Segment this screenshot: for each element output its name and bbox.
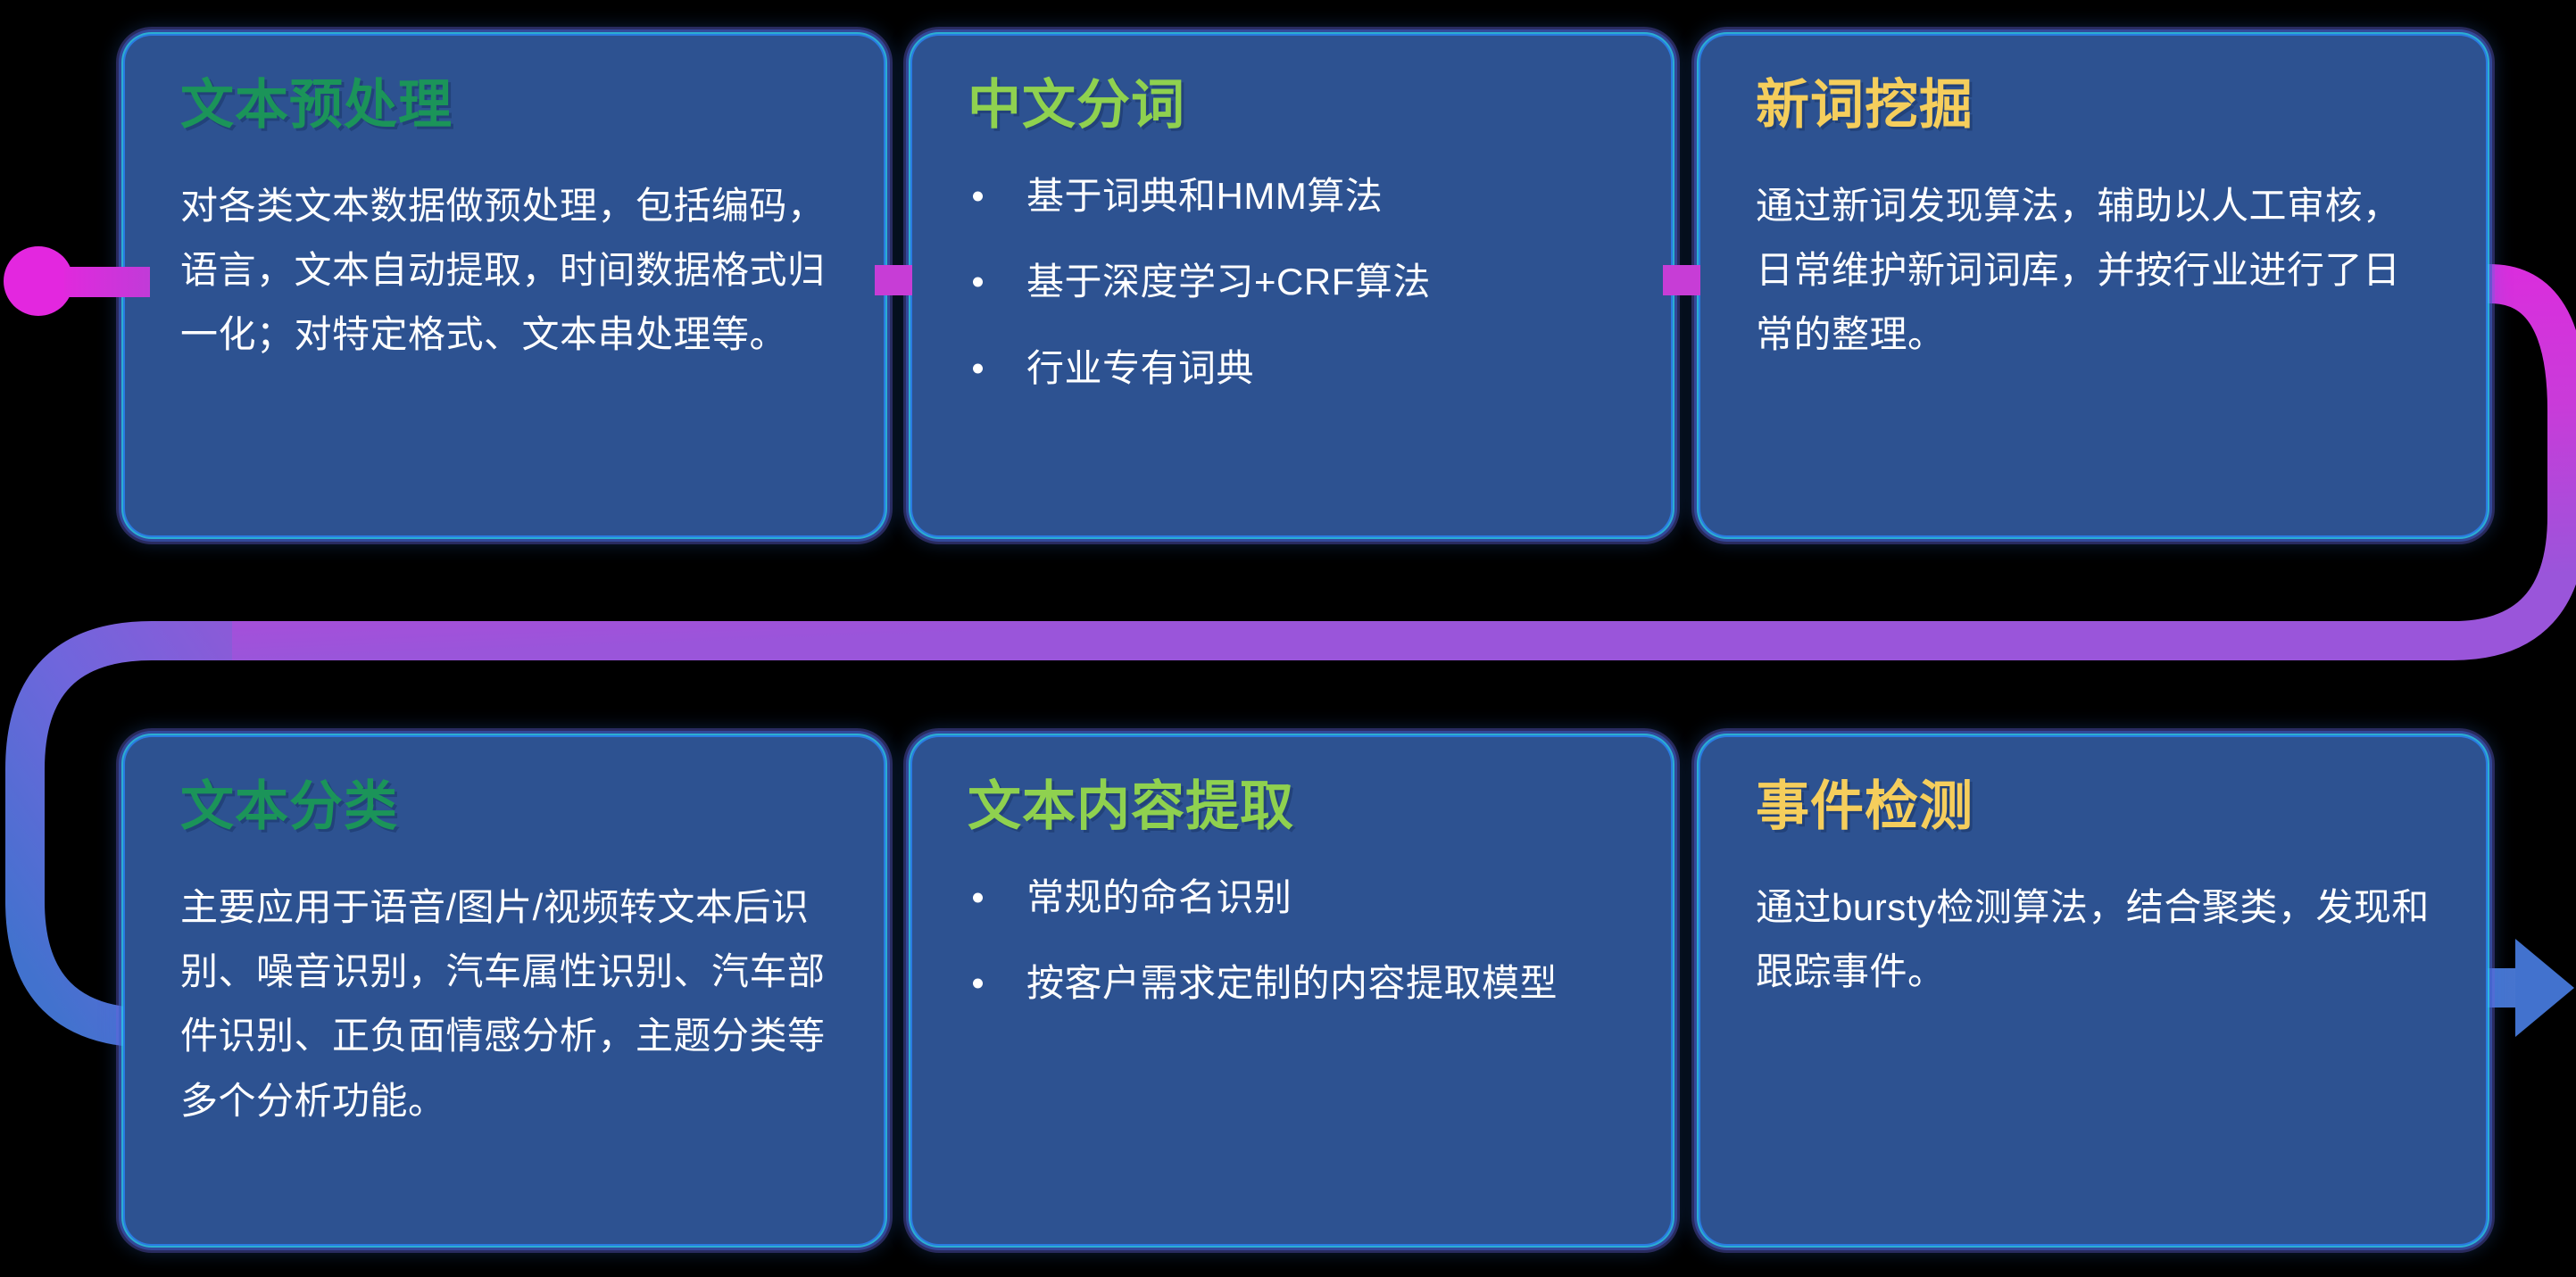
card-body-paragraph: 主要应用于语音/图片/视频转文本后识别、噪音识别，汽车属性识别、汽车部件识别、正…	[180, 875, 828, 1133]
card-body-paragraph: 通过bursty检测算法，结合聚类，发现和跟踪事件。	[1756, 875, 2431, 1004]
list-item-label: 基于深度学习+CRF算法	[1026, 261, 1431, 303]
list-item: 常规的命名识别	[968, 875, 1616, 920]
list-item-label: 基于词典和HMM算法	[1026, 175, 1383, 217]
bullet-dot-icon	[973, 191, 983, 201]
card-text-preprocessing[interactable]: 文本预处理 对各类文本数据做预处理，包括编码，语言，文本自动提取，时间数据格式归…	[125, 36, 884, 535]
list-item: 按客户需求定制的内容提取模型	[968, 961, 1616, 1006]
list-item-label: 常规的命名识别	[1026, 876, 1292, 918]
card-body-paragraph: 通过新词发现算法，辅助以人工审核，日常维护新词词库，并按行业进行了日常的整理。	[1756, 174, 2431, 368]
list-item: 基于词典和HMM算法	[968, 174, 1616, 219]
bullet-dot-icon	[973, 278, 983, 287]
card-bullet-list: 基于词典和HMM算法 基于深度学习+CRF算法 行业专有词典	[968, 174, 1616, 391]
list-item: 基于深度学习+CRF算法	[968, 260, 1616, 304]
start-connector-bar	[64, 267, 150, 297]
card-chinese-word-segmentation[interactable]: 中文分词 基于词典和HMM算法 基于深度学习+CRF算法 行业专有词典	[912, 36, 1671, 535]
card-new-word-discovery[interactable]: 新词挖掘 通过新词发现算法，辅助以人工审核，日常维护新词词库，并按行业进行了日常…	[1700, 36, 2486, 535]
list-item: 行业专有词典	[968, 346, 1616, 391]
end-arrow-icon	[2515, 939, 2574, 1037]
bullet-dot-icon	[973, 979, 983, 989]
card-title: 事件检测	[1756, 778, 2431, 836]
card-title: 新词挖掘	[1756, 77, 2431, 135]
card-title: 文本分类	[180, 778, 828, 836]
card-text-content-extraction[interactable]: 文本内容提取 常规的命名识别 按客户需求定制的内容提取模型	[912, 737, 1671, 1244]
start-dot-icon	[4, 246, 73, 316]
card-bullet-list: 常规的命名识别 按客户需求定制的内容提取模型	[968, 875, 1616, 1007]
connector-bar-card1-card2	[875, 265, 912, 295]
card-text-classification[interactable]: 文本分类 主要应用于语音/图片/视频转文本后识别、噪音识别，汽车属性识别、汽车部…	[125, 737, 884, 1244]
card-title: 文本内容提取	[968, 778, 1616, 836]
card-title: 中文分词	[968, 77, 1616, 135]
list-item-label: 行业专有词典	[1026, 347, 1254, 389]
bullet-dot-icon	[973, 363, 983, 373]
bullet-dot-icon	[973, 892, 983, 902]
card-body-paragraph: 对各类文本数据做预处理，包括编码，语言，文本自动提取，时间数据格式归一化；对特定…	[180, 174, 828, 368]
list-item-label: 按客户需求定制的内容提取模型	[1026, 962, 1558, 1004]
connector-bar-card2-card3	[1663, 265, 1700, 295]
card-title: 文本预处理	[180, 77, 828, 135]
flowchart-canvas: 文本预处理 对各类文本数据做预处理，包括编码，语言，文本自动提取，时间数据格式归…	[0, 0, 2576, 1277]
card-event-detection[interactable]: 事件检测 通过bursty检测算法，结合聚类，发现和跟踪事件。	[1700, 737, 2486, 1244]
